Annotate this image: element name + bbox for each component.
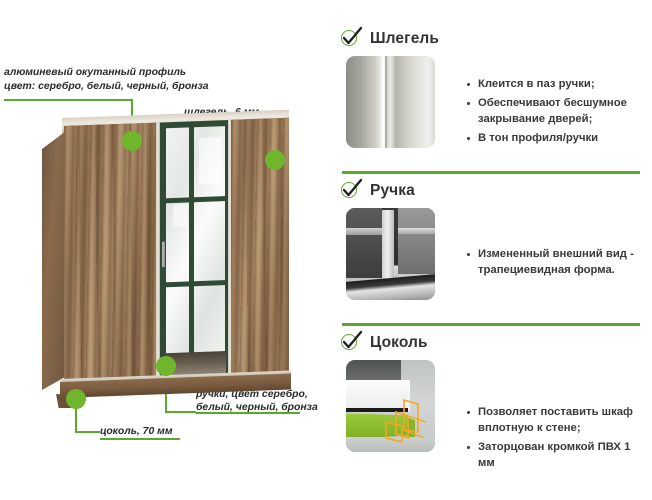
feature-card-handle: Ручка Измененный внешний вид - трапециев… [330, 174, 652, 326]
feature-header-shlegel: Шлегель [340, 28, 439, 49]
feature-bullets-handle: Измененный внешний вид - трапециевидная … [466, 246, 648, 281]
check-circle-icon [340, 332, 361, 353]
marker-dot-shlegel [265, 150, 285, 170]
check-circle-icon [340, 180, 361, 201]
callout-profile-line-2: цвет: серебро, белый, черный, бронза [4, 80, 209, 94]
glass-frame [160, 120, 231, 381]
callout-plinth-label: цоколь, 70 мм [100, 425, 173, 439]
bullet-item: В тон профиля/ручки [466, 130, 648, 146]
bullet-item: Позволяет поставить шкаф вплотную к стен… [466, 404, 648, 436]
feature-card-shlegel: Шлегель Клеится в паз ручки; Обеспечиваю… [330, 22, 652, 174]
check-circle-icon [340, 28, 361, 49]
feature-bullets-shlegel: Клеится в паз ручки; Обеспечивают бесшум… [466, 76, 648, 149]
door-middle-glass [160, 120, 231, 381]
feature-image-shlegel [346, 56, 435, 148]
features-pane: Шлегель Клеится в паз ручки; Обеспечиваю… [330, 0, 652, 500]
feature-image-handle [346, 208, 435, 300]
bullet-item: Измененный внешний вид - трапециевидная … [466, 246, 648, 278]
marker-dot-plinth [66, 389, 86, 409]
feature-image-plinth [346, 360, 435, 452]
feature-bullets-plinth: Позволяет поставить шкаф вплотную к стен… [466, 404, 648, 474]
feature-card-plinth: Цоколь Позволяет постави [330, 326, 652, 486]
feature-header-plinth: Цоколь [340, 332, 428, 353]
callout-plinth-underline [100, 438, 180, 440]
callout-profile-underline [4, 99, 132, 101]
feature-title: Цоколь [370, 334, 428, 352]
feature-title: Ручка [370, 182, 415, 200]
marker-dot-handles [156, 356, 176, 376]
door-handle-middle [162, 241, 165, 267]
door-left-wood [64, 122, 160, 384]
callout-handles-underline [196, 412, 300, 414]
feature-header-handle: Ручка [340, 180, 415, 201]
product-feature-infographic: алюминевый окутанный профиль цвет: сереб… [0, 0, 652, 500]
bullet-item: Обеспечивают бесшумное закрывание дверей… [466, 95, 648, 127]
product-illustration-pane: алюминевый окутанный профиль цвет: сереб… [0, 0, 330, 500]
annotation-outline-icon [346, 360, 435, 452]
wardrobe-doors [64, 118, 289, 384]
callout-profile-line-1: алюминевый окутанный профиль [4, 66, 186, 80]
bullet-item: Клеится в паз ручки; [466, 76, 648, 92]
bullet-item: Заторцован кромкой ПВХ 1 мм [466, 439, 648, 471]
marker-dot-profile [122, 131, 142, 151]
door-seam-left [156, 122, 160, 380]
feature-title: Шлегель [370, 30, 439, 48]
